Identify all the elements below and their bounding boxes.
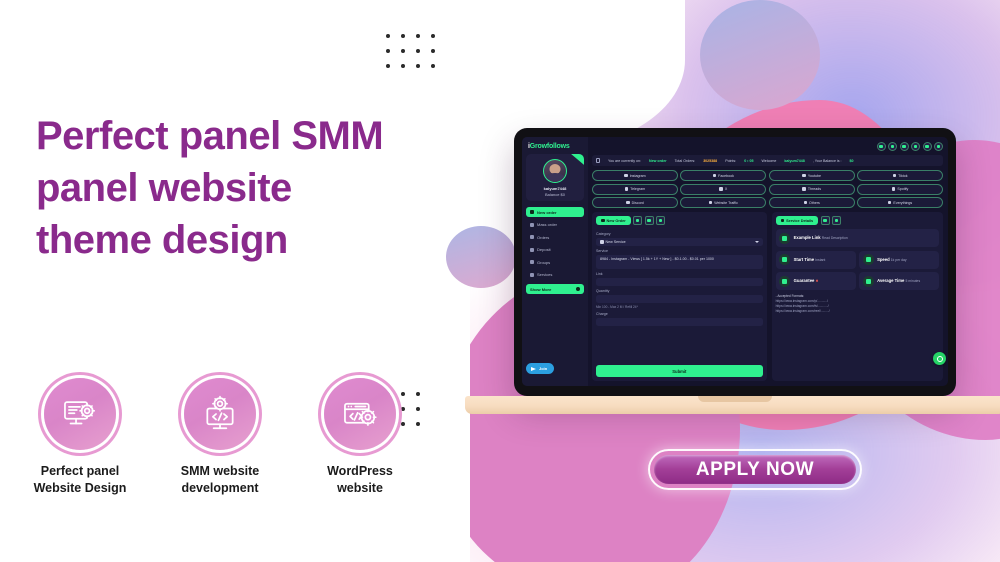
feature-item-wordpress-website: WordPress website: [312, 378, 408, 498]
sidebar-item-orders[interactable]: Orders: [526, 232, 584, 242]
total-orders-value: 3025388: [703, 159, 717, 163]
help-icon[interactable]: [888, 142, 897, 151]
detail-sub: Instant: [815, 258, 825, 262]
account-icon[interactable]: [923, 142, 932, 151]
network-tiktok[interactable]: Tiktok: [857, 170, 943, 181]
dot-grid-top: [386, 34, 435, 68]
timer-icon: [863, 276, 874, 287]
tab-label: Service Details: [786, 219, 813, 223]
monitor-gear-icon: [44, 378, 116, 450]
feature-label: WordPress website: [312, 463, 408, 498]
service-select[interactable]: 8984 - Instagram - Views [ 1.5k + 1Y + N…: [596, 255, 763, 269]
points-label: Points:: [725, 159, 736, 163]
status-bar: You are currently on: New order Total Or…: [592, 155, 943, 166]
detail-row-guarantee-average: Guarantee ✖ Average Time 5 minute: [776, 272, 939, 290]
detail-title: Guarantee: [794, 278, 815, 283]
detail-title: Start Time: [794, 257, 814, 262]
welcome-label: Welcome: [761, 159, 776, 163]
decorative-circle-gradient-top: [700, 0, 820, 110]
network-label: Others: [809, 201, 820, 205]
sidebar-item-label: Deposit: [537, 247, 551, 252]
notification-icon[interactable]: [911, 142, 920, 151]
welcome-user: kalyum7448: [784, 159, 804, 163]
feature-list: Perfect panel Website Design: [32, 378, 408, 498]
app-main: You are currently on: New order Total Or…: [588, 137, 948, 386]
detail-title: Speed: [877, 257, 890, 262]
details-icon: [781, 219, 785, 223]
cart-icon: [601, 219, 605, 223]
tab-service-details[interactable]: Service Details: [776, 216, 819, 225]
sidebar-item-label: Orders: [537, 235, 549, 240]
points-value: 0 • 05: [744, 159, 753, 163]
wallet-icon: [530, 248, 534, 252]
decorative-circle-gradient-left: [446, 226, 516, 288]
detail-sub: 1k per day: [891, 258, 907, 262]
service-value: 8984 - Instagram - Views [ 1.5k + 1Y + N…: [600, 257, 714, 262]
tiktok-icon: [893, 174, 897, 178]
network-website-traffic[interactable]: Website Traffic: [680, 197, 766, 208]
discord-icon: [626, 201, 630, 205]
detail-title: Example Link: [794, 235, 821, 240]
laptop-base: [465, 396, 1000, 414]
network-label: Threads: [808, 187, 821, 191]
whatsapp-icon[interactable]: [933, 352, 946, 365]
network-label: X: [725, 187, 727, 191]
app-sidebar: iGrowfollows kalyum7448 Balance $0 New o…: [522, 137, 588, 386]
instagram-icon: [624, 174, 628, 178]
copy-button[interactable]: [832, 216, 841, 225]
telegram-icon: [625, 187, 629, 191]
sidebar-item-deposit[interactable]: Deposit: [526, 245, 584, 255]
network-spotify[interactable]: Spotify: [857, 184, 943, 195]
submit-button[interactable]: Submit: [596, 365, 763, 377]
sidebar-show-more-button[interactable]: Show More: [526, 284, 584, 294]
sidebar-item-label: New order: [537, 210, 557, 215]
category-select[interactable]: New Service: [596, 238, 763, 246]
x-icon: [719, 187, 723, 191]
laptop-lid: iGrowfollows kalyum7448 Balance $0 New o…: [514, 128, 956, 396]
favorites-button[interactable]: [633, 216, 642, 225]
service-details-panel: Service Details Example Link R: [772, 212, 943, 381]
link-icon: [779, 233, 790, 244]
sidebar-item-mass-order[interactable]: Mass order: [526, 220, 584, 230]
detail-sub: ✖: [815, 279, 818, 283]
chevron-down-icon: [576, 287, 580, 291]
laptop-mockup: iGrowfollows kalyum7448 Balance $0 New o…: [514, 128, 956, 396]
dots-icon: [804, 201, 808, 205]
status-currently-label: You are currently on:: [608, 159, 641, 163]
sidebar-nav: New order Mass order Orders: [526, 207, 584, 294]
telegram-join-button[interactable]: Join: [526, 363, 554, 374]
network-instagram[interactable]: Instagram: [592, 170, 678, 181]
logout-icon[interactable]: [934, 142, 943, 151]
cart-icon: [530, 210, 534, 214]
sidebar-item-label: Groups: [537, 260, 550, 265]
feature-label: SMM website development: [172, 463, 268, 498]
detail-sub: 5 minutes: [905, 279, 920, 283]
new-order-form: New Order Category New Service: [592, 212, 767, 381]
charge-label: Charge: [596, 312, 763, 316]
tab-new-order[interactable]: New Order: [596, 216, 631, 225]
box-icon: [530, 235, 534, 239]
network-telegram[interactable]: Telegram: [592, 184, 678, 195]
header-icon-bar: [592, 142, 943, 151]
app-logo: iGrowfollows: [526, 142, 584, 154]
telegram-join-label: Join: [539, 366, 547, 371]
telegram-icon: [531, 367, 536, 371]
detail-card-guarantee: Guarantee ✖: [776, 272, 856, 290]
balance-value: $0: [850, 159, 854, 163]
network-label: Spotify: [897, 187, 908, 191]
clock-icon: [779, 254, 790, 265]
sidebar-item-label: Mass order: [537, 222, 557, 227]
detail-title: Average Time: [877, 278, 904, 283]
status-currently-value: New order: [649, 159, 667, 163]
network-label: Website Traffic: [714, 201, 738, 205]
quantity-label: Quantity: [596, 289, 763, 293]
avatar: [543, 159, 567, 183]
sidebar-item-label: Services: [537, 272, 552, 277]
link-input[interactable]: [596, 278, 763, 286]
category-label: Category: [596, 232, 763, 236]
grid-icon: [530, 260, 534, 264]
accepted-formats: - Accepted Formats: https://www.instagra…: [776, 294, 939, 315]
link-label: Link: [596, 272, 763, 276]
balance-label: , Your Balance is :: [813, 159, 842, 163]
network-label: Facebook: [718, 174, 734, 178]
sidebar-item-new-order[interactable]: New order: [526, 207, 584, 217]
quantity-input[interactable]: [596, 295, 763, 303]
order-tab-row: New Order: [596, 216, 763, 225]
mail-icon[interactable]: [900, 142, 909, 151]
status-icon: [596, 158, 600, 163]
logo-rest: Growfollows: [530, 143, 570, 150]
network-label: Everythings: [893, 201, 912, 205]
banner-canvas: Perfect panel SMM panel website theme de…: [0, 0, 1000, 562]
charge-input: [596, 318, 763, 326]
apply-now-button[interactable]: APPLY NOW: [648, 449, 862, 490]
detail-row-time-speed: Start Time Instant Speed 1k per d: [776, 251, 939, 269]
details-tab-row: Service Details: [776, 216, 939, 225]
category-icon: [600, 240, 604, 244]
star-icon: [888, 201, 892, 205]
history-button[interactable]: [645, 216, 654, 225]
tab-label: New Order: [607, 219, 626, 223]
network-others[interactable]: Others: [769, 197, 855, 208]
network-label: Youtube: [808, 174, 821, 178]
format-url: https://www.instagram.com/reel/.........…: [776, 309, 939, 314]
monitor-code-gear-icon: [184, 378, 256, 450]
category-value: New Service: [606, 240, 626, 244]
search-button[interactable]: [656, 216, 665, 225]
sidebar-item-groups[interactable]: Groups: [526, 257, 584, 267]
info-icon[interactable]: [877, 142, 886, 151]
quantity-hint: Min 100 - Max 2 M / Refill 24*: [596, 305, 763, 309]
detail-card-speed: Speed 1k per day: [859, 251, 939, 269]
network-discord[interactable]: Discord: [592, 197, 678, 208]
sidebar-item-services[interactable]: Services: [526, 270, 584, 280]
layers-icon: [530, 223, 534, 227]
content-columns: New Order Category New Service: [592, 212, 943, 381]
threads-icon: [802, 187, 806, 191]
smm-panel-app: iGrowfollows kalyum7448 Balance $0 New o…: [522, 137, 948, 386]
network-facebook[interactable]: Facebook: [680, 170, 766, 181]
network-label: Telegram: [630, 187, 645, 191]
apply-now-label: APPLY NOW: [654, 455, 856, 484]
spotify-icon: [892, 187, 896, 191]
feature-label: Perfect panel Website Design: [32, 463, 128, 498]
detail-card-example-link: Example Link Read Description: [776, 229, 939, 247]
network-x[interactable]: X: [680, 184, 766, 195]
feature-item-perfect-panel: Perfect panel Website Design: [32, 378, 128, 498]
browser-code-gear-icon: [324, 378, 396, 450]
profile-balance: Balance $0: [529, 192, 581, 197]
page-title: Perfect panel SMM panel website theme de…: [36, 110, 386, 266]
network-filter-grid: Instagram Facebook Youtube Tiktok Telegr…: [592, 170, 943, 208]
detail-card-start-time: Start Time Instant: [776, 251, 856, 269]
chevron-down-icon: [755, 241, 759, 243]
youtube-icon: [802, 174, 806, 178]
total-orders-label: Total Orders:: [675, 159, 696, 163]
feature-item-smm-development: SMM website development: [172, 378, 268, 498]
user-profile-card: kalyum7448 Balance $0: [526, 154, 584, 201]
facebook-icon: [713, 174, 717, 178]
service-label: Service: [596, 249, 763, 253]
network-threads[interactable]: Threads: [769, 184, 855, 195]
network-label: Instagram: [630, 174, 646, 178]
network-youtube[interactable]: Youtube: [769, 170, 855, 181]
network-label: Discord: [632, 201, 644, 205]
list-icon: [530, 273, 534, 277]
detail-card-average-time: Average Time 5 minutes: [859, 272, 939, 290]
show-more-label: Show More: [530, 287, 551, 292]
chat-button[interactable]: [821, 216, 830, 225]
network-label: Tiktok: [898, 174, 907, 178]
shield-icon: [779, 276, 790, 287]
laptop-screen: iGrowfollows kalyum7448 Balance $0 New o…: [522, 137, 948, 386]
detail-sub: Read Description: [822, 236, 848, 240]
globe-icon: [709, 201, 713, 205]
network-everythings[interactable]: Everythings: [857, 197, 943, 208]
speed-icon: [863, 254, 874, 265]
